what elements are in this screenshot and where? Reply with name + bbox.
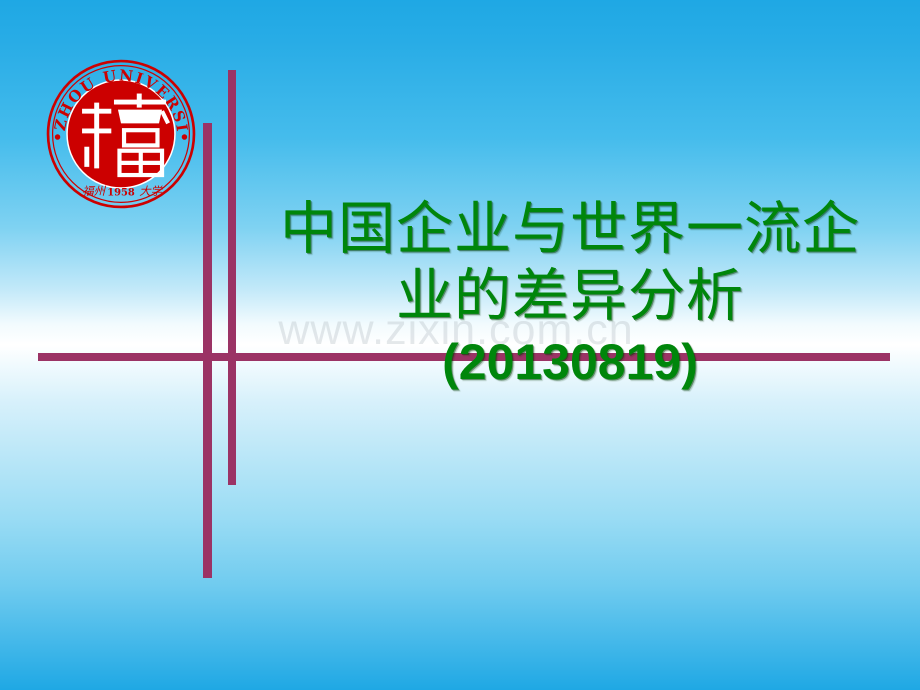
svg-text:大学: 大学 (139, 184, 163, 198)
slide-subtitle-date: (20130819) (250, 333, 890, 391)
svg-text:福州: 福州 (82, 184, 106, 198)
svg-text:1958: 1958 (107, 188, 135, 199)
vertical-accent-rule-left (203, 123, 212, 578)
slide-title-line-2: 业的差异分析 (250, 263, 890, 330)
vertical-accent-rule-right (228, 70, 236, 485)
slide-title-line-1: 中国企业与世界一流企 (250, 196, 890, 263)
presentation-title-slide: www.zixin.com.cn FUZHOU UNIVERSITY (0, 0, 920, 690)
slide-title: 中国企业与世界一流企 业的差异分析 (250, 196, 890, 329)
title-block: 中国企业与世界一流企 业的差异分析 (20130819) (250, 196, 890, 391)
fuzhou-university-seal-logo: FUZHOU UNIVERSITY (45, 58, 197, 210)
